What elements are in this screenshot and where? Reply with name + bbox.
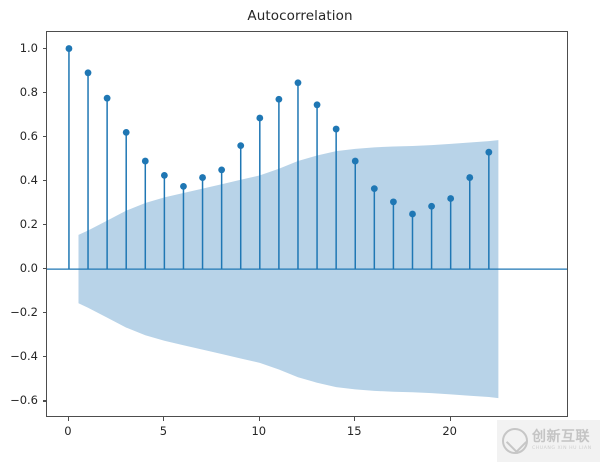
plot-area bbox=[46, 31, 568, 417]
stem-marker bbox=[466, 174, 473, 181]
stem-marker bbox=[352, 158, 359, 165]
plot-svg bbox=[47, 32, 568, 417]
x-tick-label: 0 bbox=[64, 424, 71, 438]
stem-marker bbox=[237, 142, 244, 149]
stem-marker bbox=[447, 195, 454, 202]
x-tick-mark bbox=[259, 417, 260, 421]
y-tick-label: 0.4 bbox=[0, 173, 38, 187]
y-tick-label: 0.6 bbox=[0, 129, 38, 143]
stem-marker bbox=[371, 185, 378, 192]
stem-marker bbox=[333, 126, 340, 133]
y-tick-mark bbox=[43, 48, 47, 49]
x-circle-logo-icon bbox=[502, 428, 528, 454]
y-tick-label: −0.2 bbox=[0, 305, 38, 319]
stem-marker bbox=[428, 203, 435, 210]
y-tick-label: −0.4 bbox=[0, 349, 38, 363]
stem-marker bbox=[275, 96, 282, 103]
stem-marker bbox=[161, 172, 168, 179]
y-tick-label: 0.0 bbox=[0, 261, 38, 275]
x-tick-mark bbox=[354, 417, 355, 421]
y-tick-label: 0.8 bbox=[0, 85, 38, 99]
y-tick-label: −0.6 bbox=[0, 393, 38, 407]
x-tick-mark bbox=[68, 417, 69, 421]
stem-marker bbox=[142, 158, 149, 165]
watermark-cn-label: 创新互联 bbox=[532, 430, 592, 444]
y-tick-mark bbox=[43, 312, 47, 313]
page-title: Autocorrelation bbox=[0, 8, 600, 24]
stem-marker bbox=[314, 101, 321, 108]
stem-marker bbox=[390, 198, 397, 205]
stem-marker bbox=[199, 174, 206, 181]
stem-marker bbox=[123, 129, 130, 136]
stem-marker bbox=[409, 211, 416, 218]
y-tick-mark bbox=[43, 400, 47, 401]
x-tick-label: 5 bbox=[160, 424, 167, 438]
x-tick-label: 20 bbox=[442, 424, 457, 438]
stem-marker bbox=[485, 149, 492, 156]
y-tick-mark bbox=[43, 224, 47, 225]
x-tick-mark bbox=[450, 417, 451, 421]
y-tick-label: 0.2 bbox=[0, 217, 38, 231]
y-tick-mark bbox=[43, 268, 47, 269]
y-tick-label: 1.0 bbox=[0, 41, 38, 55]
watermark: 创新互联 CHUANG XIN HU LIAN bbox=[497, 420, 600, 462]
x-tick-label: 10 bbox=[251, 424, 266, 438]
y-tick-mark bbox=[43, 136, 47, 137]
y-tick-mark bbox=[43, 92, 47, 93]
stem-marker bbox=[218, 166, 225, 173]
stem-marker bbox=[85, 69, 92, 76]
stem-marker bbox=[256, 115, 263, 122]
stem-marker bbox=[66, 45, 73, 52]
watermark-en-label: CHUANG XIN HU LIAN bbox=[532, 447, 592, 452]
watermark-text: 创新互联 CHUANG XIN HU LIAN bbox=[532, 430, 592, 451]
stem-marker bbox=[180, 183, 187, 190]
x-tick-mark bbox=[163, 417, 164, 421]
autocorrelation-figure: Autocorrelation 1.00.80.60.40.20.0−0.2−0… bbox=[0, 0, 600, 462]
stem-marker bbox=[295, 79, 302, 86]
stem-marker bbox=[104, 95, 111, 102]
y-tick-mark bbox=[43, 356, 47, 357]
x-tick-label: 15 bbox=[347, 424, 362, 438]
y-tick-mark bbox=[43, 180, 47, 181]
